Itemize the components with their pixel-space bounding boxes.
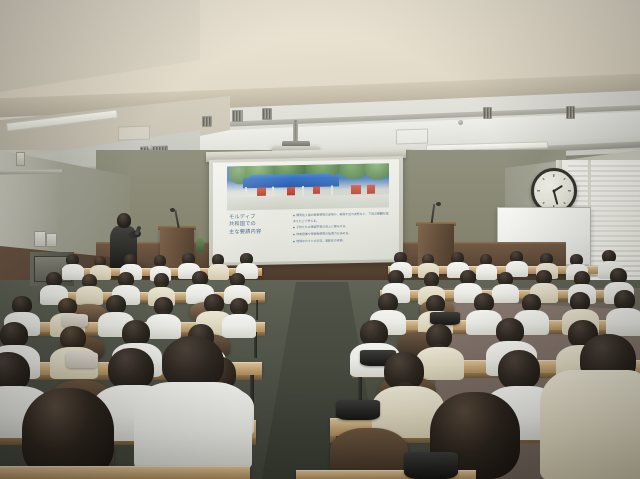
ceiling-vent-icon bbox=[566, 106, 575, 119]
slide-bullet-item: 地域の方々との交流、運動会の実施。 bbox=[293, 238, 389, 245]
clock-minute-hand bbox=[553, 191, 558, 205]
slide-bullet-item: 子供たちの基礎学習の向上に寄与する。 bbox=[293, 223, 389, 230]
lecture-hall-photo: モルディブ 共和国での 主な要請内容 開発途上国の教育現場の実情や、教員不足の実… bbox=[0, 0, 640, 479]
presenter-head bbox=[117, 213, 131, 228]
microphone-icon bbox=[436, 202, 441, 206]
potted-plant bbox=[196, 238, 204, 252]
desk-row-foreground bbox=[0, 466, 250, 479]
desk-bag bbox=[430, 312, 460, 325]
slide-title-line3: 主な要請内容 bbox=[229, 228, 281, 236]
presentation-slide: モルディブ 共和国での 主な要請内容 開発途上国の教育現場の実情や、教員不足の実… bbox=[213, 159, 399, 263]
light-switch-panel[interactable] bbox=[34, 231, 46, 247]
slide-bullet-item: 体育授業や保健指導等の指導力を高める。 bbox=[293, 230, 389, 237]
desk-pouch bbox=[66, 352, 98, 368]
clock-center-pin bbox=[553, 190, 556, 193]
ceiling-vent-icon bbox=[202, 116, 212, 127]
light-switch-panel[interactable] bbox=[46, 233, 57, 247]
desk-bag bbox=[336, 400, 380, 420]
slide-bullet-item: 開発途上国の教育現場の実情や、教員不足の実態など、下記の課題を踏まえた上で考える… bbox=[293, 211, 389, 223]
sprinkler-icon bbox=[458, 120, 463, 125]
ceiling-vent-icon bbox=[232, 110, 243, 122]
wall-plate bbox=[16, 152, 25, 166]
desk-leg bbox=[256, 300, 258, 320]
projection-screen: モルディブ 共和国での 主な要請内容 開発途上国の教育現場の実情や、教員不足の実… bbox=[213, 159, 399, 263]
ceiling-panel bbox=[118, 125, 150, 140]
microphone-icon bbox=[170, 208, 175, 212]
ceiling-vent-icon bbox=[262, 108, 272, 120]
slide-photograph bbox=[227, 163, 389, 210]
desk-bag bbox=[404, 452, 458, 479]
slide-bullet-list: 開発途上国の教育現場の実情や、教員不足の実態など、下記の課題を踏まえた上で考える… bbox=[289, 211, 389, 246]
slide-title: モルディブ 共和国での 主な要請内容 bbox=[229, 213, 281, 236]
ceiling-vent-icon bbox=[483, 107, 492, 119]
ceiling-panel bbox=[396, 128, 428, 144]
desk-pouch bbox=[62, 314, 88, 327]
